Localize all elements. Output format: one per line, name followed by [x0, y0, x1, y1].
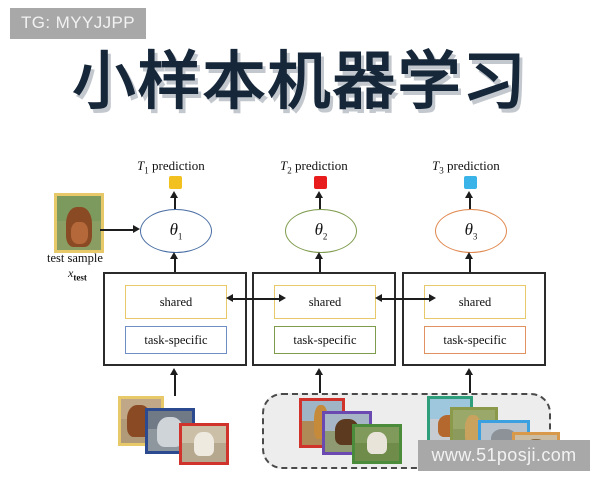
arrow-head-shared3-right: [429, 294, 436, 302]
test-sample-variable: xtest: [68, 266, 87, 282]
arrow-head-train3-box3: [465, 368, 473, 375]
task-column-1: shared task-specific: [103, 272, 247, 366]
arrow-head-theta2-prediction: [315, 191, 323, 198]
arrow-head-theta1-prediction: [170, 191, 178, 198]
arrow-head-shared2-left: [375, 294, 382, 302]
arrow-shared2-shared3: [380, 298, 431, 300]
prediction-label-t2: T2 prediction: [280, 158, 348, 176]
arrow-head-shared1-left: [226, 294, 233, 302]
shared-module-3: shared: [424, 285, 526, 319]
diagram-canvas: TG: MYYJJPP 小样本机器学习 T1 prediction T2 pre…: [0, 0, 600, 480]
task-column-2: shared task-specific: [252, 272, 396, 366]
arrow-head-theta3-prediction: [465, 191, 473, 198]
task-specific-module-2: task-specific: [274, 326, 376, 354]
task-specific-module-3: task-specific: [424, 326, 526, 354]
arrow-head-train2-box2: [315, 368, 323, 375]
prediction-swatch-t1: [169, 176, 182, 189]
prediction-swatch-t3: [464, 176, 477, 189]
watermark-top-left: TG: MYYJJPP: [10, 8, 146, 39]
shared-module-2: shared: [274, 285, 376, 319]
arrow-train1-to-box1: [174, 374, 176, 396]
task-column-3: shared task-specific: [402, 272, 546, 366]
prediction-label-t1: T1 prediction: [137, 158, 205, 176]
arrow-head-box3-theta3: [465, 252, 473, 259]
arrow-test-to-theta1: [100, 229, 133, 231]
test-sample-thumbnail: [54, 193, 104, 253]
prediction-label-t3: T3 prediction: [432, 158, 500, 176]
train-thumbnail-t2-c: [352, 424, 402, 464]
arrow-head-box2-theta2: [315, 252, 323, 259]
page-title: 小样本机器学习: [0, 44, 600, 118]
arrow-head-shared2-right: [279, 294, 286, 302]
watermark-bottom-right: www.51posji.com: [418, 440, 590, 471]
prediction-swatch-t2: [314, 176, 327, 189]
train-thumbnail-t1-c: [179, 423, 229, 465]
test-sample-caption: test sample: [47, 251, 103, 266]
theta-node-1: θ1: [140, 209, 212, 253]
arrow-head-train1-box1: [170, 368, 178, 375]
shared-module-1: shared: [125, 285, 227, 319]
theta-node-2: θ2: [285, 209, 357, 253]
arrow-head-box1-theta1: [170, 252, 178, 259]
arrow-shared1-shared2: [231, 298, 281, 300]
arrow-head-test-theta1: [133, 225, 140, 233]
theta-node-3: θ3: [435, 209, 507, 253]
task-specific-module-1: task-specific: [125, 326, 227, 354]
